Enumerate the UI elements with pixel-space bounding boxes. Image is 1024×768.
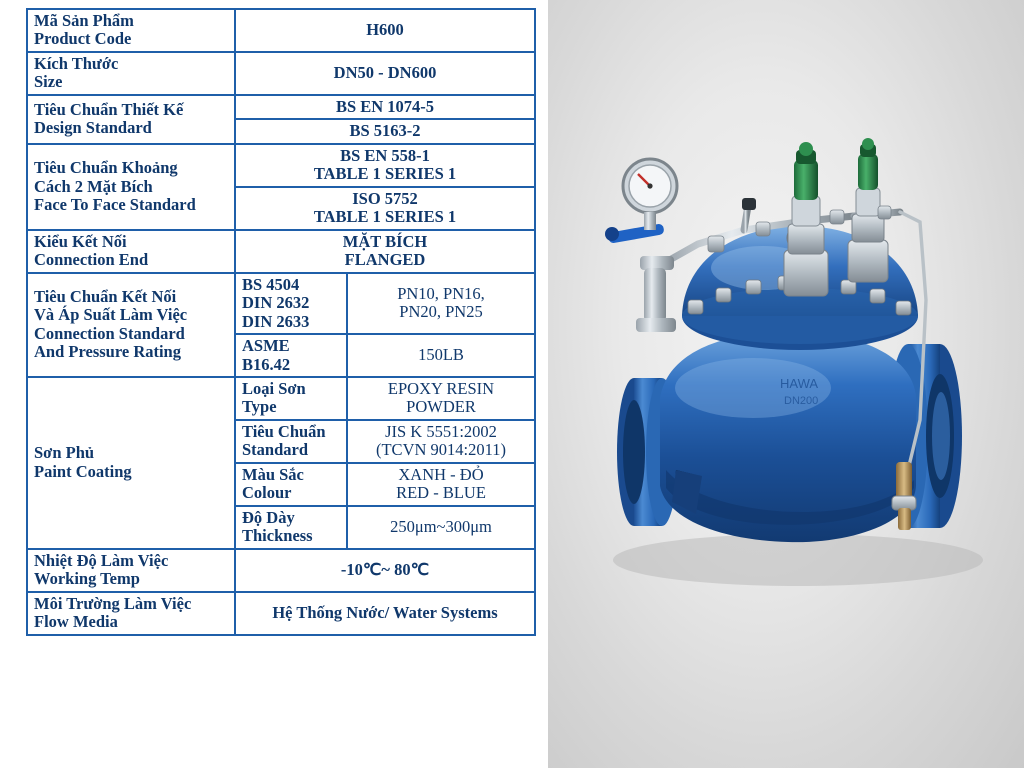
row-value-design-standard-1: BS EN 1074-5 xyxy=(235,95,535,119)
row-value-paint-type: EPOXY RESIN POWDER xyxy=(347,377,535,420)
sub-vi: Độ Dày xyxy=(242,509,340,527)
value-line-1: MẶT BÍCH xyxy=(242,233,528,251)
label-vi-2: Cách 2 Mặt Bích xyxy=(34,178,228,196)
label-en: Size xyxy=(34,73,228,91)
row-value-asme-rating: 150LB xyxy=(347,334,535,377)
row-sub-asme: ASME B16.42 xyxy=(235,334,347,377)
table-row-size: Kích Thước Size DN50 - DN600 xyxy=(27,52,535,95)
label-en: Flow Media xyxy=(34,613,228,631)
row-label-connection-end: Kiểu Kết Nối Connection End xyxy=(27,230,235,273)
valve-photo: HAWA DN200 xyxy=(548,0,1024,768)
label-en: Design Standard xyxy=(34,119,228,137)
value-line-1: ISO 5752 xyxy=(242,190,528,208)
sub-line-1: BS 4504 xyxy=(242,276,340,294)
row-sub-paint-colour: Màu Sắc Colour xyxy=(235,463,347,506)
row-label-size: Kích Thước Size xyxy=(27,52,235,95)
row-value-face-to-face-2: ISO 5752 TABLE 1 SERIES 1 xyxy=(235,187,535,230)
row-label-flow-media: Môi Trường Làm Việc Flow Media xyxy=(27,592,235,635)
label-en-2: And Pressure Rating xyxy=(34,343,228,361)
row-value-paint-colour: XANH - ĐỎ RED - BLUE xyxy=(347,463,535,506)
row-sub-bs4504: BS 4504 DIN 2632 DIN 2633 xyxy=(235,273,347,334)
label-vi: Mã Sản Phẩm xyxy=(34,12,228,30)
row-sub-paint-thickness: Độ Dày Thickness xyxy=(235,506,347,549)
label-vi-1: Tiêu Chuẩn Khoảng xyxy=(34,159,228,177)
page-root: HAWA DN200 xyxy=(0,0,1024,768)
label-en: Face To Face Standard xyxy=(34,196,228,214)
table-row-flow-media: Môi Trường Làm Việc Flow Media Hệ Thống … xyxy=(27,592,535,635)
row-label-paint-coating: Sơn Phủ Paint Coating xyxy=(27,377,235,549)
row-value-design-standard-2: BS 5163-2 xyxy=(235,119,535,143)
value-line-1: XANH - ĐỎ xyxy=(354,466,528,484)
label-vi-1: Tiêu Chuẩn Kết Nối xyxy=(34,288,228,306)
row-value-paint-standard: JIS K 5551:2002 (TCVN 9014:2011) xyxy=(347,420,535,463)
row-value-working-temp: -10℃~ 80℃ xyxy=(235,549,535,592)
table-row-pressure-rating-1: Tiêu Chuẩn Kết Nối Và Áp Suất Làm Việc C… xyxy=(27,273,535,334)
row-value-flow-media: Hệ Thống Nước/ Water Systems xyxy=(235,592,535,635)
row-value-pn-ratings: PN10, PN16, PN20, PN25 xyxy=(347,273,535,334)
value-line-2: POWDER xyxy=(354,398,528,416)
row-sub-paint-standard: Tiêu Chuẩn Standard xyxy=(235,420,347,463)
svg-text:DN200: DN200 xyxy=(784,395,818,407)
row-label-pressure-rating: Tiêu Chuẩn Kết Nối Và Áp Suất Làm Việc C… xyxy=(27,273,235,377)
row-value-product-code: H600 xyxy=(235,9,535,52)
label-en-1: Connection Standard xyxy=(34,325,228,343)
row-label-design-standard: Tiêu Chuẩn Thiết Kế Design Standard xyxy=(27,95,235,144)
row-label-working-temp: Nhiệt Độ Làm Việc Working Temp xyxy=(27,549,235,592)
table-row-design-standard-1: Tiêu Chuẩn Thiết Kế Design Standard BS E… xyxy=(27,95,535,119)
value-line-2: (TCVN 9014:2011) xyxy=(354,441,528,459)
table-row-product-code: Mã Sản Phẩm Product Code H600 xyxy=(27,9,535,52)
table-row-working-temp: Nhiệt Độ Làm Việc Working Temp -10℃~ 80℃ xyxy=(27,549,535,592)
value-line-2: RED - BLUE xyxy=(354,484,528,502)
row-value-face-to-face-1: BS EN 558-1 TABLE 1 SERIES 1 xyxy=(235,144,535,187)
value-line-1: BS EN 558-1 xyxy=(242,147,528,165)
value-line-2: TABLE 1 SERIES 1 xyxy=(242,165,528,183)
row-value-size: DN50 - DN600 xyxy=(235,52,535,95)
value-line-1: PN10, PN16, xyxy=(354,285,528,303)
label-en: Product Code xyxy=(34,30,228,48)
value-line-1: EPOXY RESIN xyxy=(354,380,528,398)
label-vi: Nhiệt Độ Làm Việc xyxy=(34,552,228,570)
sub-vi: Loại Sơn xyxy=(242,380,340,398)
label-vi-2: Và Áp Suất Làm Việc xyxy=(34,306,228,324)
sub-en: Standard xyxy=(242,441,340,459)
label-vi: Sơn Phủ xyxy=(34,444,228,462)
table-row-connection-end: Kiểu Kết Nối Connection End MẶT BÍCH FLA… xyxy=(27,230,535,273)
label-en: Connection End xyxy=(34,251,228,269)
sub-line-2: DIN 2632 xyxy=(242,294,340,312)
sub-line-3: DIN 2633 xyxy=(242,313,340,331)
label-vi: Kích Thước xyxy=(34,55,228,73)
svg-text:HAWA: HAWA xyxy=(780,376,818,391)
label-vi: Tiêu Chuẩn Thiết Kế xyxy=(34,101,228,119)
value-line-2: FLANGED xyxy=(242,251,528,269)
sub-en: Type xyxy=(242,398,340,416)
specification-table: Mã Sản Phẩm Product Code H600 Kích Thước… xyxy=(26,8,536,636)
label-en: Working Temp xyxy=(34,570,228,588)
row-label-face-to-face: Tiêu Chuẩn Khoảng Cách 2 Mặt Bích Face T… xyxy=(27,144,235,230)
row-sub-paint-type: Loại Sơn Type xyxy=(235,377,347,420)
row-label-product-code: Mã Sản Phẩm Product Code xyxy=(27,9,235,52)
label-vi: Môi Trường Làm Việc xyxy=(34,595,228,613)
value-line-2: TABLE 1 SERIES 1 xyxy=(242,208,528,226)
label-en: Paint Coating xyxy=(34,463,228,481)
row-value-connection-end: MẶT BÍCH FLANGED xyxy=(235,230,535,273)
table-row-paint-type: Sơn Phủ Paint Coating Loại Sơn Type EPOX… xyxy=(27,377,535,420)
sub-vi: Màu Sắc xyxy=(242,466,340,484)
table-row-face-to-face-1: Tiêu Chuẩn Khoảng Cách 2 Mặt Bích Face T… xyxy=(27,144,535,187)
value-line-1: JIS K 5551:2002 xyxy=(354,423,528,441)
label-vi: Kiểu Kết Nối xyxy=(34,233,228,251)
sub-en: Thickness xyxy=(242,527,340,545)
row-value-paint-thickness: 250μm~300μm xyxy=(347,506,535,549)
value-line-2: PN20, PN25 xyxy=(354,303,528,321)
sub-en: Colour xyxy=(242,484,340,502)
sub-vi: Tiêu Chuẩn xyxy=(242,423,340,441)
